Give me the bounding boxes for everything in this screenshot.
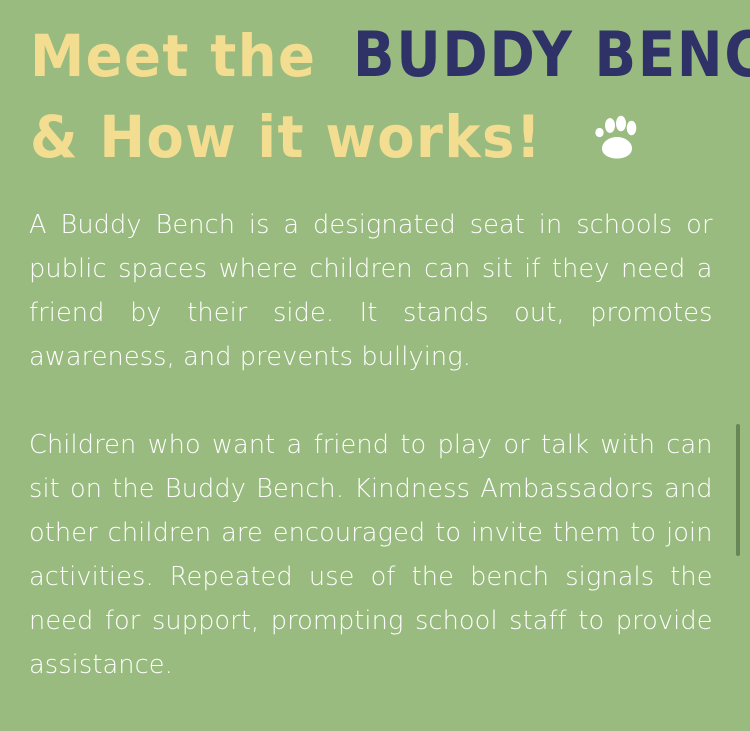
- paragraph-how-it-works: Children who want a friend to play or ta…: [29, 423, 713, 687]
- title-text-how-it-works: & How it works!: [30, 96, 542, 178]
- buddy-bench-page: Meet the BUDDY BENCH & How it works! A B…: [0, 0, 750, 731]
- title-text-buddy-bench: BUDDY BENCH: [353, 14, 750, 96]
- paragraph-definition: A Buddy Bench is a designated seat in sc…: [29, 203, 713, 379]
- article-body: A Buddy Bench is a designated seat in sc…: [29, 203, 723, 687]
- page-title: Meet the BUDDY BENCH & How it works!: [30, 14, 730, 178]
- title-text-meet-the: Meet the: [30, 15, 316, 97]
- paw-print-icon: [595, 109, 639, 159]
- title-line-2: & How it works!: [30, 96, 730, 178]
- vertical-scrollbar[interactable]: [735, 0, 741, 731]
- scrollbar-thumb[interactable]: [736, 424, 740, 556]
- title-line-1: Meet the BUDDY BENCH: [30, 14, 730, 96]
